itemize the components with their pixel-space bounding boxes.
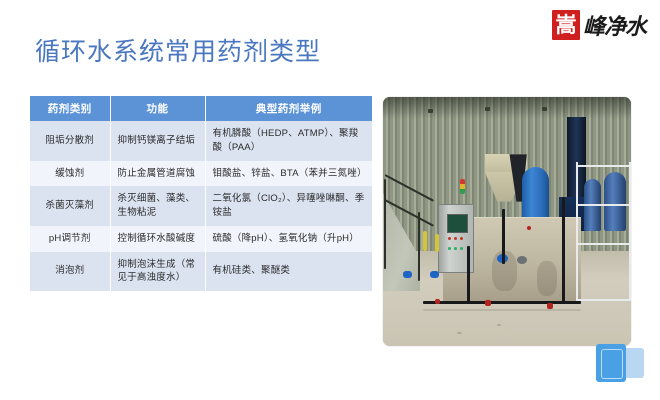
photo-status-beacon — [460, 179, 465, 194]
table-row: 杀菌灭藻剂 杀灭细菌、藻类、生物粘泥 二氧化氯（ClO₂）、异噻唑啉酮、季铵盐 — [30, 186, 372, 226]
photo-railing-rail — [576, 299, 631, 301]
cell-examples: 硫酸（降pH）、氢氧化钠（升pH） — [205, 226, 372, 252]
photo-handrail-post — [384, 179, 386, 269]
brand-name: 峰净水 — [583, 9, 646, 41]
photo-cabinet-screen — [447, 214, 468, 232]
photo-riser-pipe — [467, 246, 470, 303]
photo-main-pipe — [423, 301, 582, 304]
table-row: 消泡剂 抑制泡沫生成（常见于高浊度水） 有机硅类、聚醚类 — [30, 252, 372, 292]
table-row: pH调节剂 控制循环水酸碱度 硫酸（降pH）、氢氧化钠（升pH） — [30, 226, 372, 252]
slide-canvas: 嵩 峰净水 循环水系统常用药剂类型 药剂类别 功能 典型药剂举例 阻垢分散剂 抑… — [0, 0, 660, 400]
cell-category: 杀菌灭藻剂 — [30, 186, 110, 226]
cell-function: 控制循环水酸碱度 — [110, 226, 205, 252]
photo-cabinet-button — [460, 237, 463, 240]
photo-railing-rail — [576, 165, 631, 167]
brand-logo: 嵩 峰净水 — [552, 8, 646, 42]
photo-red-valve — [435, 299, 440, 304]
photo-riser-pipe — [502, 209, 505, 264]
table-row: 阻垢分散剂 抑制钙镁离子结垢 有机膦酸（HEDP、ATMP）、聚羧酸（PAA） — [30, 121, 372, 161]
cell-category: 缓蚀剂 — [30, 161, 110, 187]
photo-ground-speck — [457, 332, 462, 334]
photo-railing — [576, 162, 631, 301]
cell-function: 抑制泡沫生成（常见于高浊度水） — [110, 252, 205, 292]
photo-cabinet-button — [454, 247, 457, 250]
photo-wall-lamp — [485, 107, 490, 111]
cell-examples: 钼酸盐、锌盐、BTA（苯并三氮唑） — [205, 161, 372, 187]
photo-cabinet-button — [448, 247, 451, 250]
equipment-photo — [383, 97, 631, 346]
photo-red-valve — [547, 303, 553, 309]
cell-examples: 有机硅类、聚醚类 — [205, 252, 372, 292]
photo-railing-post — [576, 162, 578, 301]
cell-examples: 二氧化氯（ClO₂）、异噻唑啉酮、季铵盐 — [205, 186, 372, 226]
page-title: 循环水系统常用药剂类型 — [35, 32, 321, 68]
photo-wall-shadow — [383, 97, 631, 119]
photo-riser-pipe — [562, 197, 565, 304]
photo-yellow-drum — [423, 231, 427, 251]
photo-cabinet-button — [448, 237, 451, 240]
photo-red-valve — [485, 300, 491, 306]
table-row: 缓蚀剂 防止金属管道腐蚀 钼酸盐、锌盐、BTA（苯并三氮唑） — [30, 161, 372, 187]
cell-function: 抑制钙镁离子结垢 — [110, 121, 205, 161]
decorative-squares-icon — [590, 344, 644, 388]
table-header-row: 药剂类别 功能 典型药剂举例 — [30, 96, 372, 121]
photo-wall-lamp — [542, 107, 547, 111]
cell-function: 杀灭细菌、藻类、生物粘泥 — [110, 186, 205, 226]
cell-function: 防止金属管道腐蚀 — [110, 161, 205, 187]
photo-pump — [430, 271, 439, 278]
photo-pump — [403, 271, 412, 278]
decorative-square-outline — [601, 349, 623, 379]
chemical-types-table: 药剂类别 功能 典型药剂举例 阻垢分散剂 抑制钙镁离子结垢 有机膦酸（HEDP、… — [30, 96, 372, 291]
photo-railing-rail — [576, 243, 631, 245]
photo-yellow-drum — [435, 234, 439, 252]
column-header-function: 功能 — [110, 96, 205, 121]
photo-cabinet-button — [460, 247, 463, 250]
cell-examples: 有机膦酸（HEDP、ATMP）、聚羧酸（PAA） — [205, 121, 372, 161]
photo-handrail-post — [418, 212, 420, 282]
photo-railing-rail — [576, 204, 631, 206]
cell-category: 阻垢分散剂 — [30, 121, 110, 161]
cell-category: pH调节剂 — [30, 226, 110, 252]
column-header-category: 药剂类别 — [30, 96, 110, 121]
photo-railing-post — [629, 162, 631, 301]
photo-pipe-base — [423, 309, 582, 311]
photo-wall-lamp — [428, 109, 433, 113]
brand-seal-icon: 嵩 — [552, 10, 580, 40]
column-header-examples: 典型药剂举例 — [205, 96, 372, 121]
cell-category: 消泡剂 — [30, 252, 110, 292]
photo-tank-stain — [537, 261, 557, 296]
photo-cabinet-button — [454, 237, 457, 240]
